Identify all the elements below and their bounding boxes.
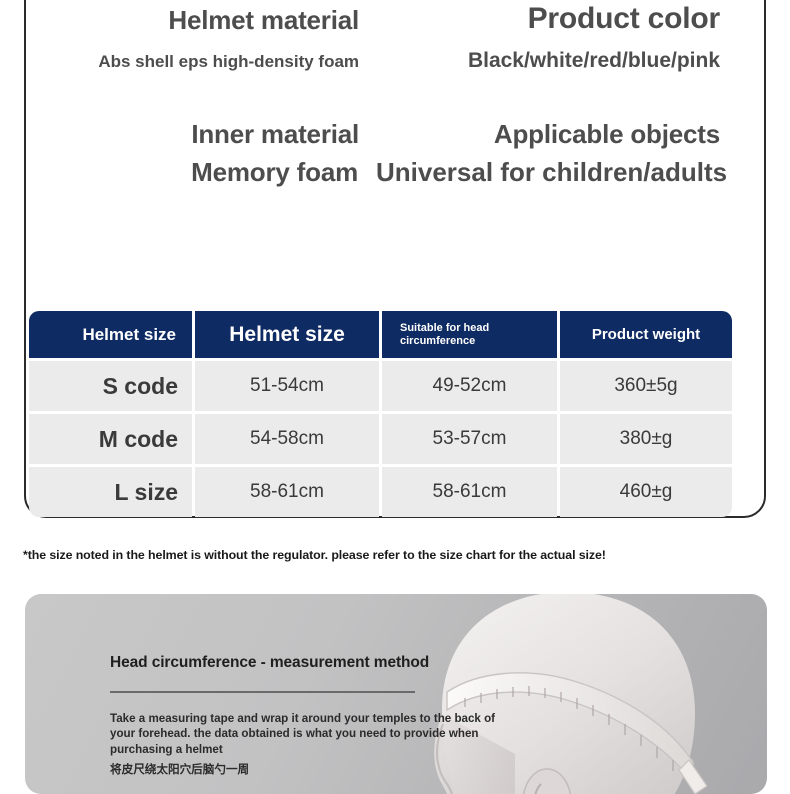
table-header-row: Helmet size Helmet size Suitable for hea… [29,311,732,358]
header-head-circumference-line2: circumference [400,335,475,347]
spec-col-left: Memory foam [48,158,376,187]
measurement-instructions: Take a measuring tape and wrap it around… [110,711,500,757]
header-head-circumference-line1: Suitable for head [400,322,489,334]
spec-rows: Helmet material Product color Abs shell … [26,2,764,186]
header-helmet-size: Helmet size [195,311,379,358]
spec-col-left: Abs shell eps high-density foam [48,53,377,72]
applicable-objects-title: Applicable objects [377,120,720,149]
size-table-head: Helmet size Helmet size Suitable for hea… [29,311,732,358]
inner-material-title: Inner material [48,120,359,149]
row-product-weight: 380±g [560,414,732,464]
row-head-circumference: 49-52cm [382,361,557,411]
row-head-circumference: 53-57cm [382,414,557,464]
row-head-circumference: 58-61cm [382,467,557,517]
spec-col-left: Helmet material [48,6,377,35]
helmet-material-title: Helmet material [48,6,359,35]
row-size-label: S code [29,361,192,411]
row-helmet-size: 58-61cm [195,467,379,517]
spec-row-titles-1: Helmet material Product color [48,2,742,35]
applicable-objects-value: Universal for children/adults [376,158,720,187]
row-product-weight: 460±g [560,467,732,517]
size-chart-footnote: *the size noted in the helmet is without… [23,548,771,562]
size-table-body: S code 51-54cm 49-52cm 360±5g M code 54-… [29,361,732,517]
table-row: M code 54-58cm 53-57cm 380±g [29,414,732,464]
measurement-text-block: Head circumference - measurement method … [110,654,510,777]
spacer [48,35,742,49]
inner-material-value: Memory foam [48,158,358,187]
measurement-method-panel: Head circumference - measurement method … [25,594,767,794]
header-product-weight: Product weight [560,311,732,358]
measurement-instructions-secondary: 将皮尺绕太阳穴后脑勺一周 [110,762,510,777]
spec-col-right: Universal for children/adults [376,158,742,187]
spec-col-right: Applicable objects [377,120,742,149]
spec-row-titles-2: Inner material Applicable objects [48,120,742,149]
header-helmet-size-code: Helmet size [29,311,192,358]
row-product-weight: 360±5g [560,361,732,411]
helmet-material-value: Abs shell eps high-density foam [48,53,359,72]
row-size-label: L size [29,467,192,517]
product-color-title: Product color [377,2,720,35]
divider [110,691,415,693]
header-head-circumference: Suitable for head circumference [382,311,557,358]
spec-col-right: Product color [377,2,742,35]
table-row: S code 51-54cm 49-52cm 360±5g [29,361,732,411]
row-helmet-size: 51-54cm [195,361,379,411]
spec-row-values-1: Abs shell eps high-density foam Black/wh… [48,49,742,72]
helmet-size-table: Helmet size Helmet size Suitable for hea… [26,308,735,520]
spec-row-values-2: Memory foam Universal for children/adult… [48,158,742,187]
spec-col-left: Inner material [48,120,377,149]
product-color-value: Black/white/red/blue/pink [377,49,720,72]
row-size-label: M code [29,414,192,464]
spacer [48,72,742,120]
measurement-title: Head circumference - measurement method [110,654,510,672]
row-helmet-size: 54-58cm [195,414,379,464]
table-row: L size 58-61cm 58-61cm 460±g [29,467,732,517]
spec-col-right: Black/white/red/blue/pink [377,49,742,72]
